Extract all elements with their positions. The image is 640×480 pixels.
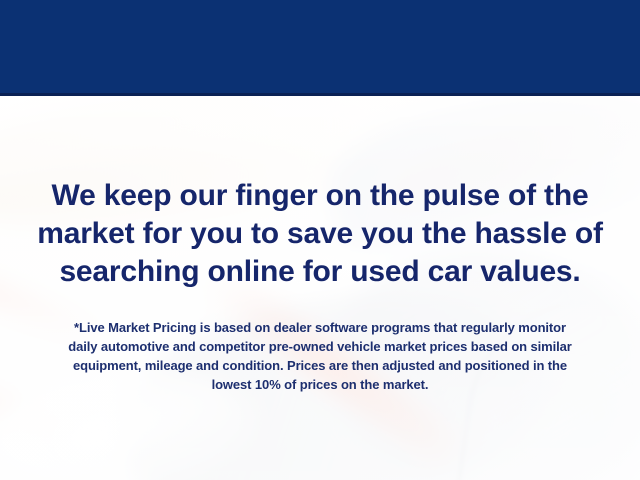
- disclaimer: *Live Market Pricing is based on dealer …: [0, 318, 640, 394]
- header-banner: [0, 0, 640, 93]
- live-market-pricing-slide: Live Market Pricing* We keep our finger …: [0, 0, 640, 480]
- headline-line: searching online for used car values.: [0, 253, 640, 291]
- header-banner-rule: [0, 93, 640, 96]
- disclaimer-line: equipment, mileage and condition. Prices…: [0, 356, 640, 375]
- disclaimer-line: *Live Market Pricing is based on dealer …: [0, 318, 640, 337]
- disclaimer-line: daily automotive and competitor pre-owne…: [0, 337, 640, 356]
- headline-line: market for you to save you the hassle of: [0, 215, 640, 253]
- disclaimer-line: lowest 10% of prices on the market.: [0, 375, 640, 394]
- headline: We keep our finger on the pulse of the m…: [0, 177, 640, 291]
- headline-line: We keep our finger on the pulse of the: [0, 177, 640, 215]
